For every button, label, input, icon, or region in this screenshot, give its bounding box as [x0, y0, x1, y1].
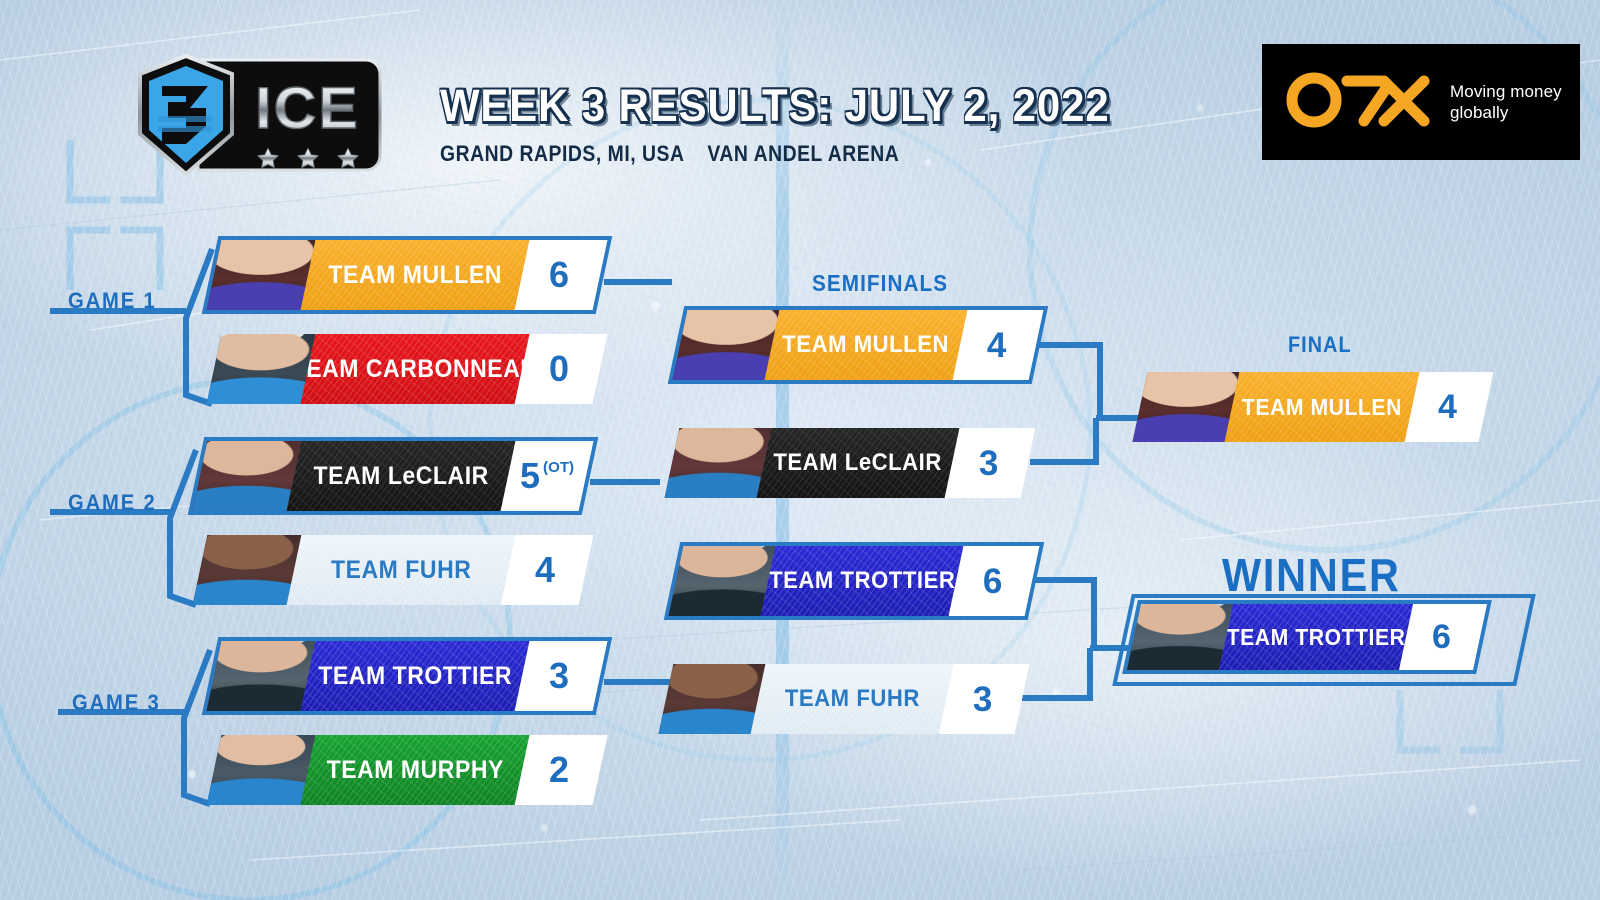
- round-label-winner: WINNER: [1222, 548, 1401, 602]
- score-cell-carbonneau-g1: 0: [515, 334, 608, 404]
- team-name-cell-trottier-g3: TEAM TROTTIER: [301, 641, 530, 711]
- page-title: WEEK 3 RESULTS: JULY 2, 2022: [440, 80, 1110, 132]
- svg-text:ICE: ICE: [255, 77, 360, 141]
- team-name-cell-fuhr-semi: TEAM FUHR: [751, 664, 954, 734]
- team-name-fuhr-g2: TEAM FUHR: [331, 556, 471, 585]
- score-cell-mullen-semi: 4: [953, 310, 1044, 380]
- match-row-fuhr-g2[interactable]: TEAM FUHR 4: [193, 535, 594, 605]
- score-cell-fuhr-semi: 3: [939, 664, 1030, 734]
- team-name-cell-murphy-g3: TEAM MURPHY: [301, 735, 530, 805]
- score-leclair-semi: 3: [979, 446, 1001, 481]
- match-row-trottier-g3[interactable]: TEAM TROTTIER 3: [207, 641, 608, 711]
- score-value: 3: [973, 682, 992, 717]
- coach-photo-trottier: [207, 641, 316, 711]
- score-value: 6: [549, 257, 569, 293]
- ofx-tagline-line2: globally: [1450, 102, 1562, 123]
- match-row-murphy-g3[interactable]: TEAM MURPHY 2: [207, 735, 608, 805]
- score-value: 4: [1438, 390, 1457, 424]
- score-leclair-g2: 5 (OT): [520, 458, 574, 494]
- score-fuhr-g2: 4: [535, 552, 558, 588]
- score-mullen-final: 4: [1438, 390, 1460, 424]
- team-name-cell-mullen-semi: TEAM MULLEN: [765, 310, 968, 380]
- coach-photo-murphy: [207, 735, 316, 805]
- score-value: 4: [987, 328, 1006, 363]
- score-cell-leclair-g2: 5 (OT): [501, 441, 594, 511]
- score-value: 4: [535, 552, 555, 588]
- score-value: 6: [983, 564, 1002, 599]
- coach-photo-mullen: [207, 240, 316, 310]
- team-name-murphy-g3: TEAM MURPHY: [326, 756, 503, 785]
- team-name-cell-carbonneau-g1: TEAM CARBONNEAU: [301, 334, 530, 404]
- score-trottier-semi: 6: [983, 564, 1005, 599]
- team-name-trottier-winner: TEAM TROTTIER: [1227, 624, 1406, 651]
- event-city: GRAND RAPIDS, MI, USA: [440, 141, 685, 166]
- event-location-line: GRAND RAPIDS, MI, USAVAN ANDEL ARENA: [440, 141, 1074, 167]
- match-row-trottier-winner[interactable]: TEAM TROTTIER 6: [1127, 604, 1487, 670]
- score-value: 2: [549, 752, 569, 788]
- score-mullen-semi: 4: [987, 328, 1009, 363]
- coach-photo-trottier-winner: [1127, 604, 1233, 670]
- score-trottier-g3: 3: [549, 658, 572, 694]
- game-label-3: GAME 3: [72, 690, 161, 716]
- team-name-fuhr-semi: TEAM FUHR: [785, 685, 920, 713]
- match-row-fuhr-semi[interactable]: TEAM FUHR 3: [659, 664, 1030, 734]
- coach-photo-leclair-semi: [665, 428, 772, 498]
- match-row-mullen-g1[interactable]: TEAM MULLEN 6: [207, 240, 608, 310]
- team-name-mullen-g1: TEAM MULLEN: [328, 261, 501, 290]
- team-name-carbonneau-g1: TEAM CARBONNEAU: [301, 355, 530, 384]
- score-cell-trottier-g3: 3: [515, 641, 608, 711]
- team-name-cell-mullen-g1: TEAM MULLEN: [301, 240, 530, 310]
- match-row-trottier-semi[interactable]: TEAM TROTTIER 6: [669, 546, 1040, 616]
- ofx-tagline: Moving money globally: [1450, 81, 1562, 124]
- score-cell-trottier-semi: 6: [949, 546, 1040, 616]
- score-value: 0: [549, 351, 569, 387]
- sponsor-logo-ofx[interactable]: Moving money globally: [1262, 44, 1580, 160]
- team-name-cell-mullen-final: TEAM MULLEN: [1225, 372, 1420, 442]
- score-trottier-winner: 6: [1432, 620, 1454, 654]
- score-cell-mullen-final: 4: [1405, 372, 1494, 442]
- score-value: 3: [549, 658, 569, 694]
- team-name-cell-trottier-winner: TEAM TROTTIER: [1219, 604, 1413, 670]
- ofx-wordmark-icon: [1284, 69, 1434, 136]
- team-name-cell-fuhr-g2: TEAM FUHR: [287, 535, 516, 605]
- score-murphy-g3: 2: [549, 752, 572, 788]
- three-ice-logo: ICE: [128, 52, 386, 180]
- coach-photo-mullen-semi: [673, 310, 780, 380]
- coach-photo-mullen-final: [1133, 372, 1240, 442]
- coach-photo-leclair: [193, 441, 302, 511]
- score-cell-trottier-winner: 6: [1399, 604, 1487, 670]
- team-name-cell-trottier-semi: TEAM TROTTIER: [761, 546, 964, 616]
- match-row-leclair-semi[interactable]: TEAM LeCLAIR 3: [665, 428, 1036, 498]
- match-row-mullen-final[interactable]: TEAM MULLEN 4: [1133, 372, 1494, 442]
- score-cell-leclair-semi: 3: [945, 428, 1036, 498]
- coach-photo-fuhr: [193, 535, 302, 605]
- game-label-1: GAME 1: [68, 288, 157, 314]
- game-label-2: GAME 2: [68, 490, 157, 516]
- score-value: 3: [979, 446, 998, 481]
- score-mullen-g1: 6: [549, 257, 572, 293]
- match-row-mullen-semi[interactable]: TEAM MULLEN 4: [673, 310, 1044, 380]
- match-row-leclair-g2[interactable]: TEAM LeCLAIR 5 (OT): [193, 441, 594, 511]
- team-name-trottier-g3: TEAM TROTTIER: [318, 662, 512, 691]
- header-text-block: WEEK 3 RESULTS: JULY 2, 2022 GRAND RAPID…: [440, 80, 1160, 167]
- score-cell-mullen-g1: 6: [515, 240, 608, 310]
- team-name-leclair-semi: TEAM LeCLAIR: [774, 449, 943, 477]
- score-carbonneau-g1: 0: [549, 351, 572, 387]
- score-fuhr-semi: 3: [973, 682, 995, 717]
- ofx-tagline-line1: Moving money: [1450, 81, 1562, 102]
- coach-photo-carbonneau: [207, 334, 316, 404]
- coach-photo-trottier-semi: [669, 546, 776, 616]
- team-name-leclair-g2: TEAM LeCLAIR: [313, 462, 488, 491]
- overtime-marker: (OT): [543, 460, 574, 475]
- match-row-carbonneau-g1[interactable]: TEAM CARBONNEAU 0: [207, 334, 608, 404]
- coach-photo-fuhr-semi: [659, 664, 766, 734]
- round-label-final: FINAL: [1288, 332, 1352, 358]
- team-name-mullen-final: TEAM MULLEN: [1242, 394, 1402, 421]
- score-cell-fuhr-g2: 4: [501, 535, 594, 605]
- score-cell-murphy-g3: 2: [515, 735, 608, 805]
- team-name-mullen-semi: TEAM MULLEN: [783, 331, 950, 359]
- bracket-graphic: ICE WEEK 3 RESULTS: JULY 2, 2022 GRAND R…: [0, 0, 1600, 900]
- event-venue: VAN ANDEL ARENA: [707, 141, 899, 166]
- team-name-trottier-semi: TEAM TROTTIER: [769, 567, 955, 595]
- round-label-semifinals: SEMIFINALS: [812, 270, 948, 297]
- score-value: 5: [520, 458, 540, 494]
- score-value: 6: [1432, 620, 1451, 654]
- team-name-cell-leclair-semi: TEAM LeCLAIR: [757, 428, 960, 498]
- team-name-cell-leclair-g2: TEAM LeCLAIR: [287, 441, 516, 511]
